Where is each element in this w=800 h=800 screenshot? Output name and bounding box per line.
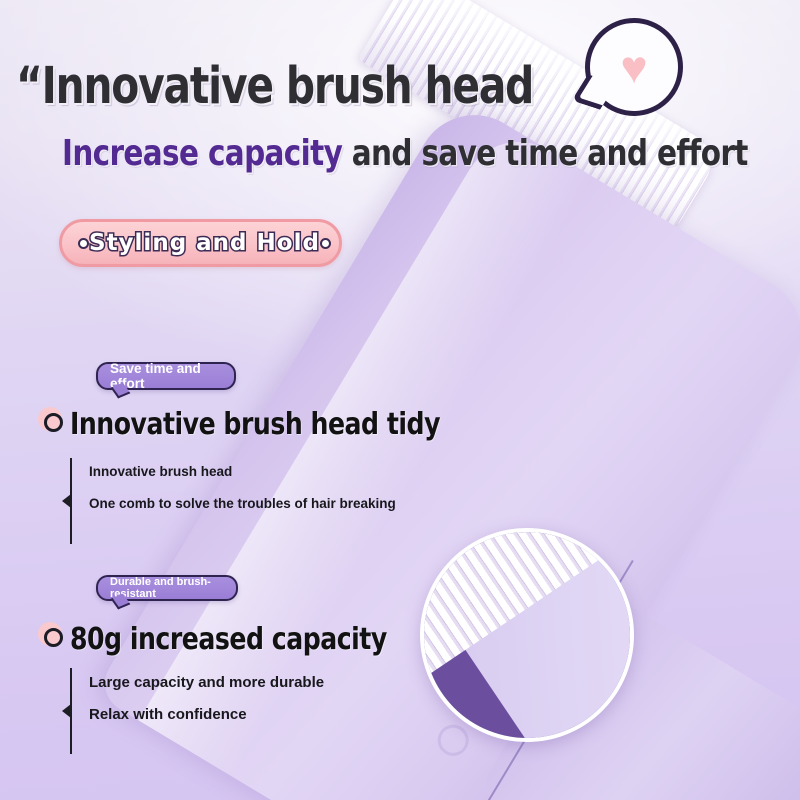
dot-icon-left: [78, 238, 89, 249]
bullet-marker-icon-2: [38, 622, 68, 652]
page-subtitle: Increase capacity and save time and effo…: [62, 133, 748, 174]
arrow-left-icon: [62, 494, 71, 508]
page-title: “Innovative brush head: [16, 57, 533, 116]
headline-accent-text: Increase capacity: [62, 133, 342, 174]
headline-line2-text: and save time and effort: [342, 133, 748, 174]
feature-detail-line: Relax with confidence: [89, 706, 324, 723]
marker-ring: [44, 413, 63, 432]
feature-tag-durable: Durable and brush-resistant: [96, 575, 238, 601]
feature-detail-lines-1: Innovative brush head One comb to solve …: [89, 464, 396, 528]
styling-and-hold-badge: Styling and Hold: [59, 219, 342, 267]
magnifier-detail-circle: [420, 528, 634, 742]
heart-speech-bubble: ♥: [585, 18, 683, 116]
bullet-marker-icon-1: [38, 407, 68, 437]
arrow-left-icon: [62, 704, 71, 718]
magnifier-body-detail: [450, 528, 634, 742]
product-promo-poster: ♥ “Innovative brush head Increase capaci…: [0, 0, 800, 800]
marker-ring: [44, 628, 63, 647]
feature-detail-lines-2: Large capacity and more durable Relax wi…: [89, 674, 324, 738]
magnifier-teeth-detail: [420, 528, 634, 675]
badge-label: Styling and Hold: [89, 230, 320, 256]
comb-emboss-marks: [389, 517, 629, 798]
feature-tag-label: Durable and brush-resistant: [110, 576, 224, 600]
feature-heading-1: Innovative brush head tidy: [70, 407, 440, 442]
feature-detail-line: One comb to solve the troubles of hair b…: [89, 496, 396, 511]
heart-icon: ♥: [620, 44, 647, 90]
feature-tag-save-time: Save time and effort: [96, 362, 236, 390]
comb-handle: [476, 588, 800, 800]
comb-edge-highlight: [477, 560, 633, 800]
quote-mark: “: [16, 57, 42, 116]
dot-icon-right: [320, 238, 331, 249]
feature-heading-2: 80g increased capacity: [70, 622, 387, 657]
feature-detail-line: Innovative brush head: [89, 464, 396, 479]
feature-tag-label: Save time and effort: [110, 361, 222, 391]
feature-detail-line: Large capacity and more durable: [89, 674, 324, 691]
headline-line1-text: Innovative brush head: [42, 57, 534, 116]
